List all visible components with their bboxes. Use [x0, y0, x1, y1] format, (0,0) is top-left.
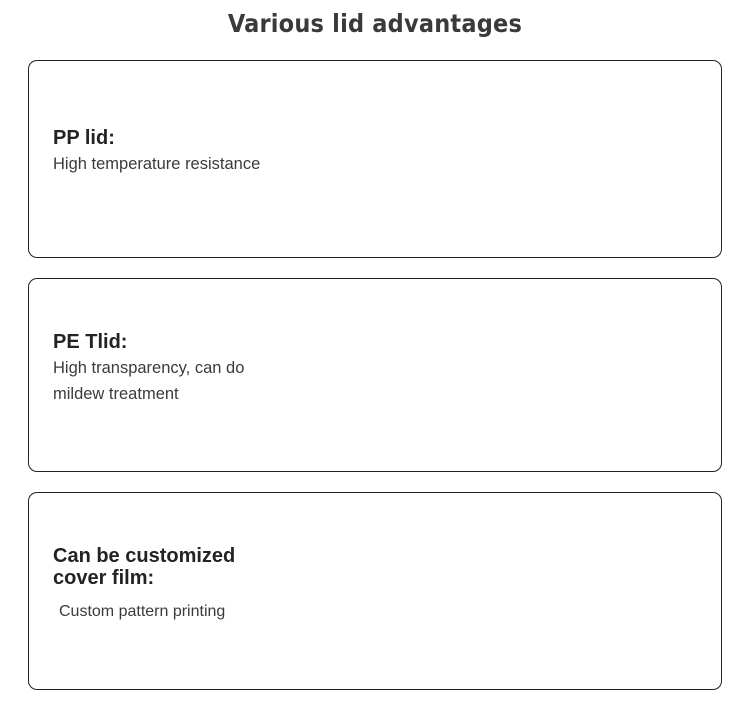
pp-lid-text-block: PP lid: High temperature resistance: [53, 127, 260, 178]
pe-lid-description: High transparency, can do mildew treatme…: [53, 356, 244, 407]
cover-film-text-block: Can be customized cover film: Custom pat…: [53, 545, 235, 625]
pe-lid-heading: PE Tlid:: [53, 331, 244, 353]
panel-pe-lid: PE Tlid: High transparency, can do milde…: [28, 278, 722, 472]
cover-film-heading: Can be customized cover film:: [53, 545, 235, 590]
pp-lid-description: High temperature resistance: [53, 152, 260, 178]
panel-pp-lid: PP lid: High temperature resistance: [28, 60, 722, 258]
page-title: Various lid advantages: [0, 9, 750, 38]
pe-lid-text-block: PE Tlid: High transparency, can do milde…: [53, 331, 244, 408]
pp-lid-heading: PP lid:: [53, 127, 260, 149]
panel-cover-film: Can be customized cover film: Custom pat…: [28, 492, 722, 690]
cover-film-description: Custom pattern printing: [53, 600, 235, 625]
